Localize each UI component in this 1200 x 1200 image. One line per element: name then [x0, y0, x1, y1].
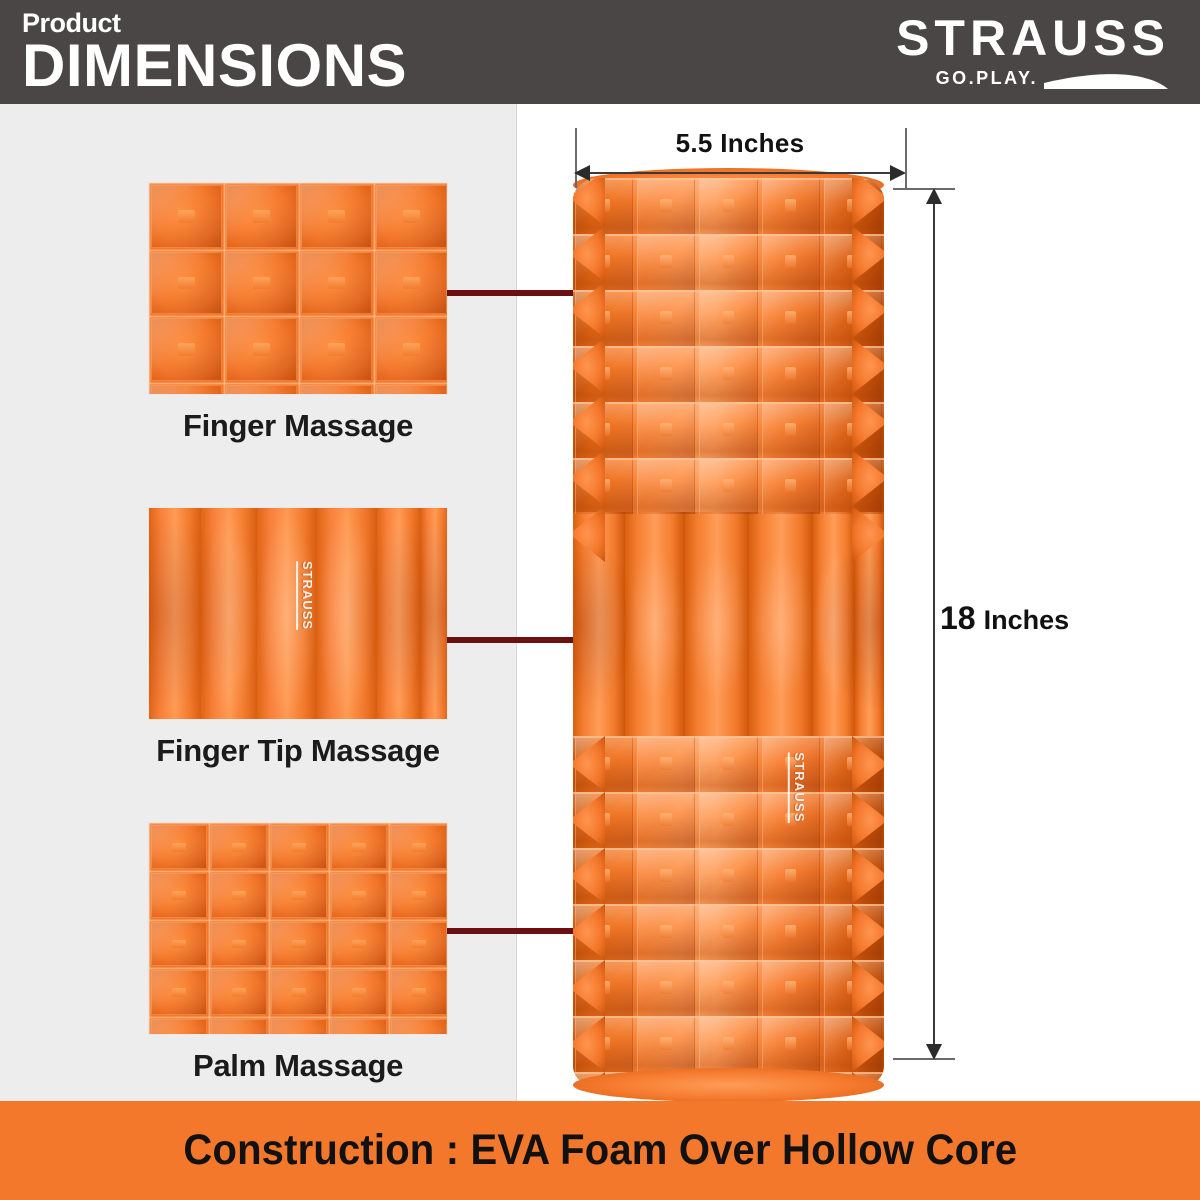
roller-knob	[637, 736, 695, 792]
texture-cell	[301, 318, 372, 381]
page-title-main: DIMENSIONS	[22, 38, 407, 93]
brand-tagline: GO.PLAY.	[936, 69, 1038, 87]
roller-row-seam	[573, 290, 884, 292]
arrow-right-icon	[890, 165, 906, 181]
texture-cell	[376, 318, 447, 381]
embossed-brand-product: STRAUSS	[788, 752, 807, 823]
roller-knob	[699, 1016, 757, 1072]
texture-cell	[151, 185, 222, 248]
roller-knob-row	[573, 792, 884, 848]
roller-knob	[762, 346, 820, 402]
roller-knob	[699, 178, 757, 234]
texture-cell	[376, 385, 447, 395]
roller-row-seam	[573, 458, 884, 460]
footer-banner: Construction : EVA Foam Over Hollow Core	[0, 1101, 1200, 1200]
texture-cell	[211, 970, 267, 1014]
texture-cell	[151, 873, 207, 917]
texture-cell	[331, 970, 387, 1014]
roller-knob-row	[573, 736, 884, 792]
texture-cell	[226, 185, 297, 248]
texture-cell	[151, 252, 222, 315]
texture-seam	[149, 315, 447, 318]
roller-row-seam	[573, 402, 884, 404]
roller-row-seam	[573, 234, 884, 236]
roller-knob	[637, 178, 695, 234]
callout-palm-massage: Palm Massage	[148, 822, 448, 1084]
roller-knob	[637, 960, 695, 1016]
roller-knob	[637, 346, 695, 402]
roller-knob	[762, 290, 820, 346]
callout-finger-tip-massage: STRAUSS Finger Tip Massage	[148, 507, 466, 769]
texture-cell	[211, 922, 267, 966]
texture-cell	[301, 185, 372, 248]
embossed-brand-product-text: STRAUSS	[792, 752, 807, 823]
texture-cell	[331, 873, 387, 917]
texture-cell	[226, 318, 297, 381]
texture-seam	[148, 823, 151, 1034]
brand-logo: STRAUSS GO.PLAY.	[896, 13, 1200, 91]
dimension-height-unit: Inches	[984, 605, 1070, 636]
texture-seam	[149, 182, 447, 185]
texture-cell	[301, 385, 372, 395]
texture-cell	[211, 825, 267, 869]
texture-cell	[391, 922, 447, 966]
dimension-width-label: 5.5 Inches	[574, 128, 906, 159]
roller-knob	[762, 904, 820, 960]
ridge-texture: STRAUSS	[149, 508, 447, 719]
roller-knob	[637, 792, 695, 848]
texture-cell	[301, 252, 372, 315]
roller-knob-row	[573, 458, 884, 514]
roller-knob	[699, 904, 757, 960]
swoosh-icon	[1042, 65, 1170, 91]
roller-row-seam	[573, 736, 884, 738]
texture-seam	[149, 967, 447, 970]
texture-cell	[151, 385, 222, 395]
texture-cell	[151, 922, 207, 966]
callout-label-palm-massage: Palm Massage	[148, 1048, 448, 1084]
roller-knob	[637, 848, 695, 904]
roller-knob	[699, 346, 757, 402]
roller-knob-row	[573, 346, 884, 402]
texture-cell	[151, 318, 222, 381]
texture-cell	[271, 1019, 327, 1035]
texture-cell	[391, 1019, 447, 1035]
roller-knob	[699, 792, 757, 848]
texture-cell	[271, 922, 327, 966]
roller-knob	[637, 402, 695, 458]
texture-cell	[211, 1019, 267, 1035]
arrow-down-icon	[926, 1044, 942, 1060]
texture-seam	[373, 183, 376, 394]
roller-knob	[762, 458, 820, 514]
roller-knob	[699, 402, 757, 458]
arrow-left-icon	[574, 165, 590, 181]
texture-seam	[208, 823, 211, 1034]
roller-knob	[637, 290, 695, 346]
roller-body	[573, 178, 884, 1088]
thumbnail-finger-massage	[148, 182, 448, 395]
footer-construction-text: Construction : EVA Foam Over Hollow Core	[183, 1126, 1017, 1175]
texture-cell	[226, 385, 297, 395]
roller-knob-row	[573, 178, 884, 234]
roller-knob	[637, 1016, 695, 1072]
texture-cell	[391, 825, 447, 869]
arrow-up-icon	[926, 188, 942, 204]
texture-cell	[271, 970, 327, 1014]
roller-smooth-band	[573, 512, 884, 736]
texture-seam	[298, 183, 301, 394]
roller-knob	[762, 402, 820, 458]
pyramid-texture	[149, 183, 447, 394]
texture-seam	[268, 823, 271, 1034]
texture-seam	[149, 822, 447, 825]
texture-cell	[391, 873, 447, 917]
roller-knob	[699, 736, 757, 792]
brand-name: STRAUSS	[896, 13, 1170, 63]
roller-knob-row	[573, 904, 884, 960]
callout-label-finger-massage: Finger Massage	[148, 408, 448, 444]
texture-seam	[328, 823, 331, 1034]
texture-cell	[331, 1019, 387, 1035]
brand-tagline-row: GO.PLAY.	[936, 65, 1170, 91]
roller-knob	[699, 234, 757, 290]
texture-seam	[149, 919, 447, 922]
product-image-foam-roller: STRAUSS	[556, 178, 901, 1088]
roller-knob	[699, 848, 757, 904]
roller-row-seam	[573, 346, 884, 348]
roller-knob	[637, 458, 695, 514]
texture-cell	[271, 825, 327, 869]
roller-knob	[762, 178, 820, 234]
roller-knob	[637, 234, 695, 290]
embossed-product-swoosh-icon	[788, 752, 790, 823]
ridge-shading	[149, 507, 447, 720]
roller-knob	[699, 458, 757, 514]
callout-label-finger-tip-massage: Finger Tip Massage	[130, 733, 466, 769]
roller-knob-row	[573, 848, 884, 904]
dimension-height-label: 18 Inches	[940, 600, 1069, 637]
texture-seam	[148, 183, 151, 394]
roller-row-seam	[573, 904, 884, 906]
header-bar: Product DIMENSIONS STRAUSS GO.PLAY.	[0, 0, 1200, 104]
roller-knob-row	[573, 234, 884, 290]
roller-knob	[762, 848, 820, 904]
texture-cell	[271, 873, 327, 917]
roller-knob-row	[573, 960, 884, 1016]
texture-cell	[376, 185, 447, 248]
roller-knob	[699, 960, 757, 1016]
roller-row-seam	[573, 960, 884, 962]
dense-pyramid-texture	[149, 823, 447, 1034]
texture-seam	[149, 1016, 447, 1019]
texture-seam	[149, 249, 447, 252]
roller-row-seam	[573, 1016, 884, 1018]
texture-cell	[151, 1019, 207, 1035]
dimension-width-line	[582, 172, 898, 174]
roller-bottom-cap	[573, 1068, 884, 1102]
thumbnail-finger-tip-massage: STRAUSS	[148, 507, 448, 720]
roller-knob	[637, 904, 695, 960]
texture-cell	[391, 970, 447, 1014]
texture-cell	[226, 252, 297, 315]
roller-knob	[699, 290, 757, 346]
callout-finger-massage: Finger Massage	[148, 182, 448, 444]
texture-seam	[149, 870, 447, 873]
texture-seam	[223, 183, 226, 394]
texture-cell	[211, 873, 267, 917]
roller-row-seam	[573, 848, 884, 850]
texture-cell	[376, 252, 447, 315]
roller-knob	[762, 1016, 820, 1072]
thumbnail-palm-massage	[148, 822, 448, 1035]
roller-knob-row	[573, 402, 884, 458]
roller-knob-row	[573, 1016, 884, 1072]
roller-row-seam	[573, 792, 884, 794]
page-title: Product DIMENSIONS	[0, 10, 407, 93]
roller-knob	[762, 960, 820, 1016]
roller-knob	[762, 234, 820, 290]
texture-cell	[151, 825, 207, 869]
texture-cell	[331, 922, 387, 966]
texture-cell	[151, 970, 207, 1014]
texture-seam	[149, 382, 447, 385]
roller-band-shading	[573, 512, 884, 736]
dimension-height-line	[933, 198, 935, 1050]
texture-seam	[388, 823, 391, 1034]
dimension-width: 5.5 Inches	[574, 128, 906, 186]
texture-cell	[331, 825, 387, 869]
roller-knob-row	[573, 290, 884, 346]
dimension-height-number: 18	[940, 600, 976, 637]
